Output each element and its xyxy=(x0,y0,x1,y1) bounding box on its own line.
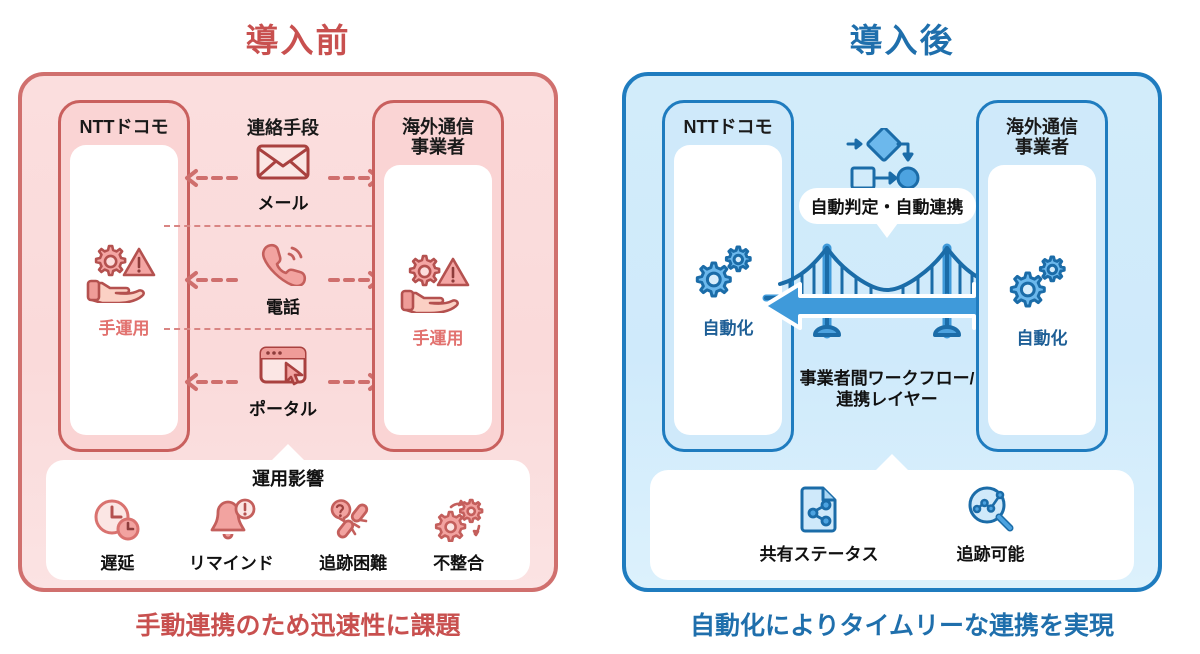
portal-window-cursor-icon xyxy=(256,344,310,393)
before-actor-oversea-caption: 手運用 xyxy=(413,324,464,349)
before-impact-tracking: 追跡困難 xyxy=(319,498,387,574)
before-panel-title: 導入前 xyxy=(8,14,588,62)
gears-icon xyxy=(1004,251,1080,318)
gears-icon xyxy=(690,241,766,308)
before-actor-oversea: 海外通信 事業者 xyxy=(372,100,504,452)
broken-link-question-icon xyxy=(327,498,379,547)
before-channel-phone: 電話 xyxy=(164,242,402,318)
before-impact-tracking-label: 追跡困難 xyxy=(319,549,387,574)
before-actor-docomo-caption: 手運用 xyxy=(99,314,150,339)
hand-gear-warning-icon xyxy=(400,251,476,318)
phone-icon xyxy=(258,242,308,291)
before-channels-column: 連絡手段 メー xyxy=(198,100,368,452)
magnifier-chart-icon xyxy=(965,485,1017,538)
bell-alert-icon xyxy=(205,498,257,547)
before-impact-delay-label: 遅延 xyxy=(100,549,134,574)
before-channel-portal: ポータル xyxy=(164,344,402,420)
after-actor-docomo-caption: 自動化 xyxy=(703,314,754,339)
before-impact-remind: リマインド xyxy=(189,498,274,574)
before-channel-mail-label: メール xyxy=(258,189,309,214)
before-channel-divider-2 xyxy=(164,328,402,330)
after-benefit-traceable: 追跡可能 xyxy=(957,485,1025,565)
mail-icon xyxy=(255,142,311,187)
after-actor-docomo-title: NTTドコモ xyxy=(684,117,773,137)
arrow-left-dashed-icon xyxy=(184,168,240,188)
before-impacts-title: 運用影響 xyxy=(252,465,324,491)
before-channels-title: 連絡手段 xyxy=(198,114,368,140)
after-panel: NTTドコモ 自動化 xyxy=(622,72,1162,592)
before-impact-delay: 遅延 xyxy=(91,498,143,574)
share-document-icon xyxy=(793,485,845,538)
before-impact-mismatch-label: 不整合 xyxy=(433,549,484,574)
after-benefits-box: 共有ステータス xyxy=(650,470,1134,580)
before-impacts-box: 運用影響 遅延 xyxy=(46,460,530,580)
before-actor-oversea-title: 海外通信 事業者 xyxy=(402,117,474,157)
before-channel-phone-label: 電話 xyxy=(266,293,300,318)
before-caption: 手動連携のため迅速性に課題 xyxy=(8,606,588,642)
after-benefit-shared-status-label: 共有ステータス xyxy=(760,540,879,565)
arrow-left-dashed-icon xyxy=(184,270,240,290)
clock-icon xyxy=(91,498,143,547)
before-actor-docomo-title: NTTドコモ xyxy=(80,117,169,137)
before-channel-divider-1 xyxy=(164,225,402,227)
before-channel-mail: メール xyxy=(164,142,402,214)
arrow-left-dashed-icon xyxy=(184,372,240,392)
after-actor-oversea-title: 海外通信 事業者 xyxy=(1006,117,1078,157)
after-actor-oversea-body: 自動化 xyxy=(988,165,1096,435)
mismatched-gears-icon xyxy=(433,498,485,547)
before-actor-docomo-body: 手運用 xyxy=(70,145,178,435)
after-bubble-label: 自動判定・自動連携 xyxy=(799,188,976,224)
after-benefit-shared-status: 共有ステータス xyxy=(760,485,879,565)
before-impact-remind-label: リマインド xyxy=(189,549,274,574)
after-benefit-traceable-label: 追跡可能 xyxy=(957,540,1025,565)
after-bridge-column: 自動判定・自動連携 xyxy=(802,100,972,452)
before-actor-oversea-body: 手運用 xyxy=(384,165,492,435)
after-panel-title: 導入後 xyxy=(612,14,1192,62)
diagram-stage: 導入前 NTTドコモ xyxy=(0,0,1200,654)
hand-gear-warning-icon xyxy=(86,241,162,308)
before-panel: NTTドコモ xyxy=(18,72,558,592)
after-caption: 自動化によりタイムリーな連携を実現 xyxy=(612,606,1192,642)
before-impact-mismatch: 不整合 xyxy=(433,498,485,574)
after-bubble: 自動判定・自動連携 xyxy=(768,188,1006,224)
after-actor-oversea-caption: 自動化 xyxy=(1017,324,1068,349)
before-channel-portal-label: ポータル xyxy=(249,395,317,420)
after-actor-oversea: 海外通信 事業者 自動化 xyxy=(976,100,1108,452)
